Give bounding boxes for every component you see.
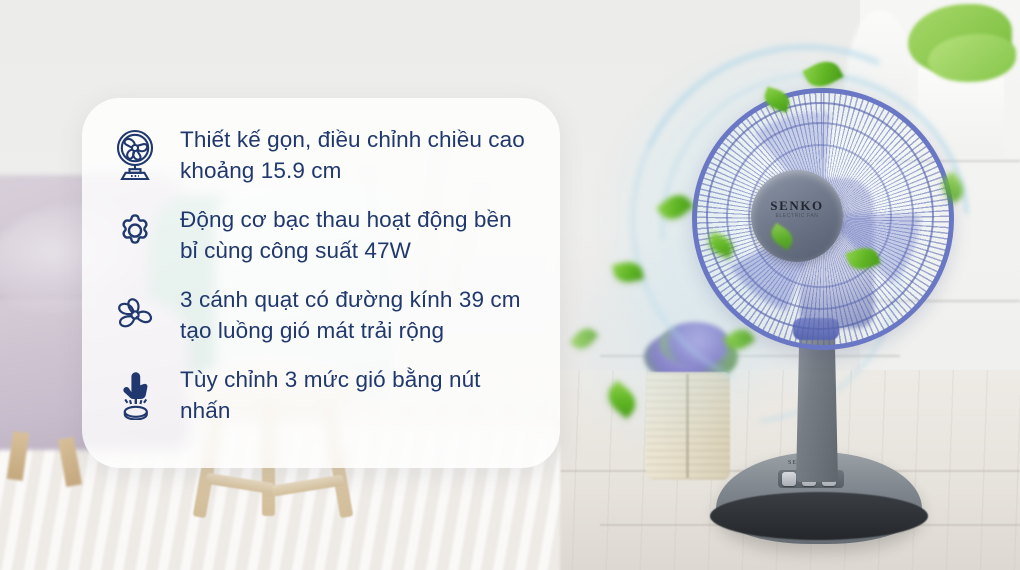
table-fan-icon: [108, 126, 162, 184]
feature-text: Động cơ bạc thau hoạt động bền bỉ cùng c…: [180, 204, 530, 266]
feature-item: Động cơ bạc thau hoạt động bền bỉ cùng c…: [108, 204, 530, 266]
feature-item: 3 cánh quạt có đường kính 39 cm tạo luồn…: [108, 284, 530, 346]
fan-brand-logo: SENKO: [760, 198, 834, 214]
feature-text: Tùy chỉnh 3 mức gió bằng nút nhấn: [180, 364, 530, 426]
feature-item: Thiết kế gọn, điều chỉnh chiều cao khoản…: [108, 124, 530, 186]
fan-brand-sublabel: ELECTRIC FAN: [760, 213, 834, 219]
feature-card: Thiết kế gọn, điều chỉnh chiều cao khoản…: [82, 98, 560, 468]
product-banner: SENKO SENKO ELECTRIC FAN: [0, 0, 1020, 570]
fan-base-rim: [710, 492, 928, 540]
feature-item: Tùy chỉnh 3 mức gió bằng nút nhấn: [108, 364, 530, 426]
fan-pole: [796, 330, 838, 482]
hand-press-button-icon: [108, 366, 162, 424]
fan-speed-button-1[interactable]: [782, 472, 796, 486]
feature-text: 3 cánh quạt có đường kính 39 cm tạo luồn…: [180, 284, 530, 346]
feature-text: Thiết kế gọn, điều chỉnh chiều cao khoản…: [180, 124, 530, 186]
fan-blades-icon: [108, 286, 162, 344]
gear-icon: [108, 206, 162, 264]
